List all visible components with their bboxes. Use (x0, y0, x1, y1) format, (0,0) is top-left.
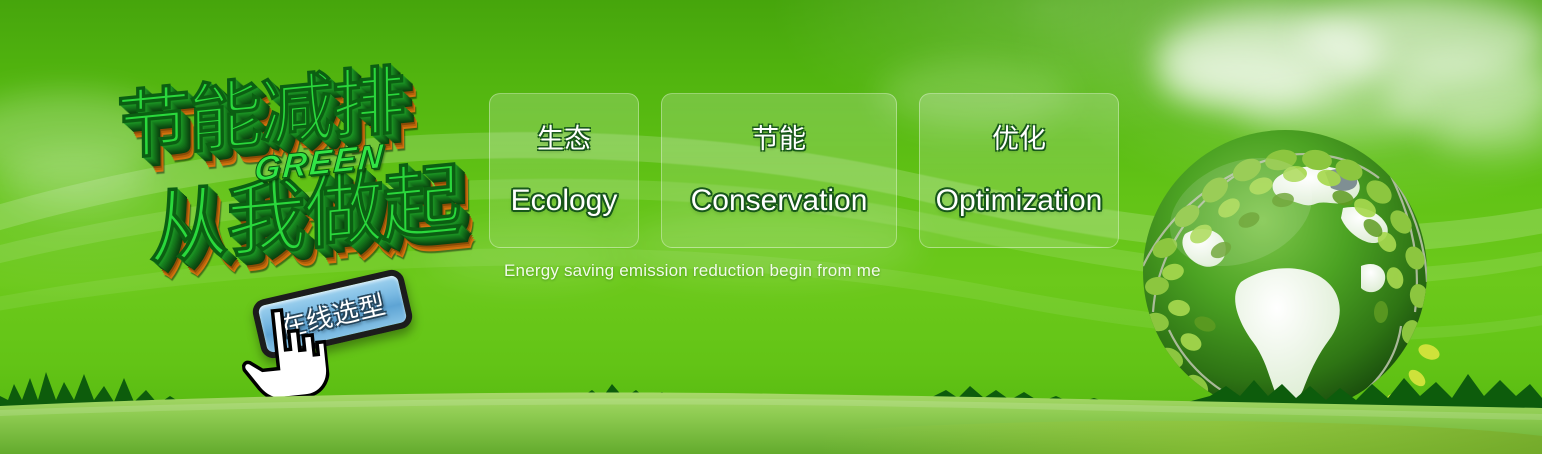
feature-card-cn-label: 节能 (752, 117, 806, 156)
tagline-text: Energy saving emission reduction begin f… (504, 261, 881, 281)
pointing-hand-cursor-icon (236, 302, 332, 406)
green-energy-banner: 节能减排 从我做起 GREEN 生态 Ecology 节能 Conservati… (0, 0, 1542, 454)
feature-card-en-label: Optimization (936, 184, 1103, 218)
feature-card-en-label: Ecology (511, 184, 618, 218)
cloud-shape (1155, 10, 1385, 106)
headline-3d-block: 节能减排 从我做起 GREEN (104, 40, 484, 265)
feature-card-conservation[interactable]: 节能 Conservation (661, 93, 897, 248)
cta-button-group[interactable]: 在线选型 (255, 276, 420, 361)
feature-card-optimization[interactable]: 优化 Optimization (919, 93, 1119, 248)
feature-card-cn-label: 优化 (992, 117, 1046, 156)
feature-card-cn-label: 生态 (537, 117, 591, 156)
cloud-shape (1430, 110, 1542, 158)
feature-card-ecology[interactable]: 生态 Ecology (489, 93, 639, 248)
cloud-shape (1300, 0, 1542, 80)
cloud-shape (1160, 48, 1320, 108)
feature-card-en-label: Conservation (691, 184, 868, 218)
feature-card-list: 生态 Ecology 节能 Conservation 优化 Optimizati… (489, 93, 1119, 248)
leafy-earth-globe-icon (1129, 116, 1441, 428)
